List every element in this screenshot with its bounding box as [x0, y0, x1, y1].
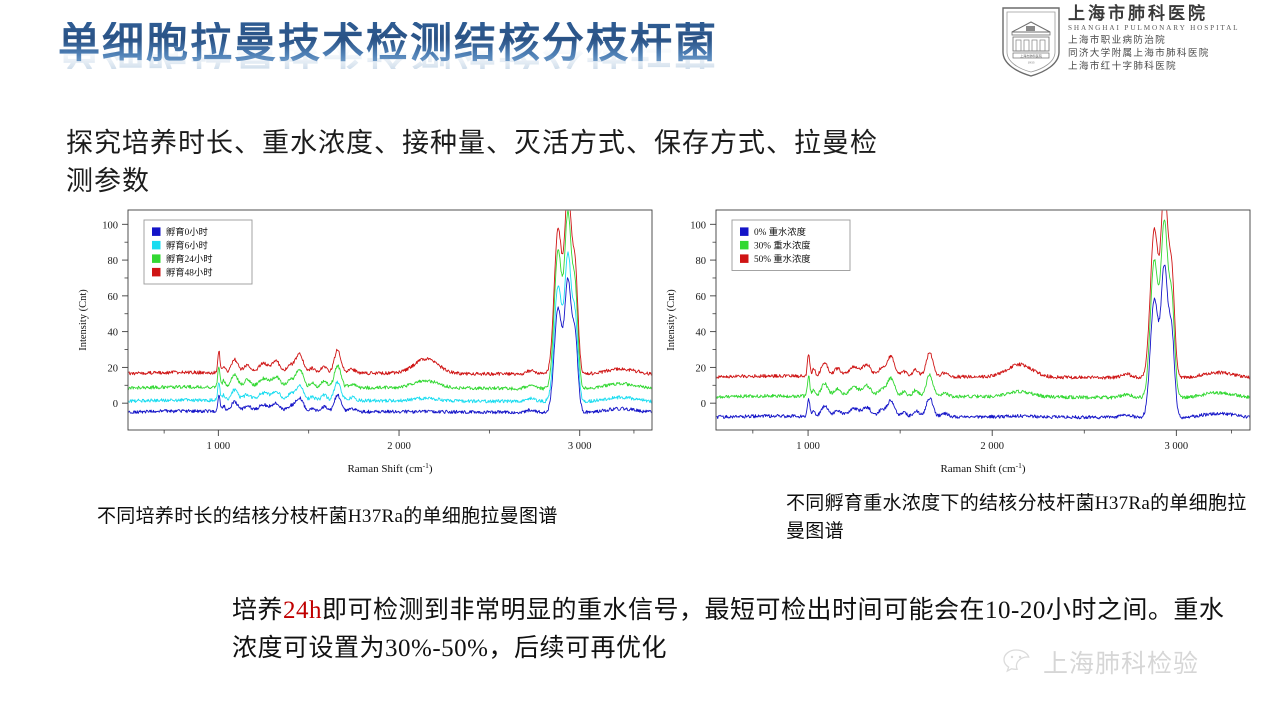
conclusion-post: 即可检测到非常明显的重水信号，最短可检出时间可能会在10-20小时之间。重水浓度…: [232, 597, 1224, 662]
legend-label: 孵育6小时: [166, 240, 208, 252]
x-tick-label: 3 000: [568, 441, 592, 452]
legend-label: 孵育0小时: [166, 226, 208, 238]
legend-label: 孵育24小时: [166, 253, 213, 265]
y-tick-label: 80: [696, 256, 707, 267]
caption-right: 不同孵育重水浓度下的结核分枝杆菌H37Ra的单细胞拉曼图谱: [786, 490, 1256, 545]
raman-chart-d2o-concentration: 0204060801001 0002 0003 000Raman Shift (…: [660, 200, 1260, 480]
x-tick-label: 2 000: [387, 441, 411, 452]
emblem-year: 1933: [1028, 61, 1035, 65]
legend-label: 30% 重水浓度: [754, 240, 811, 252]
slide-root: 上海市肺科医院 1933 上海市肺科医院 SHANGHAI PULMONARY …: [0, 0, 1280, 720]
x-tick-label: 1 000: [796, 441, 820, 452]
conclusion-highlight: 24h: [283, 597, 322, 624]
y-tick-label: 100: [102, 220, 118, 231]
chart-legend: 0% 重水浓度30% 重水浓度50% 重水浓度: [732, 220, 850, 271]
subtitle-text: 探究培养时长、重水浓度、接种量、灭活方式、保存方式、拉曼检测参数: [66, 124, 886, 201]
x-axis-title: Raman Shift (cm-1): [940, 461, 1025, 475]
y-tick-label: 80: [108, 256, 119, 267]
x-axis-title: Raman Shift (cm-1): [347, 461, 432, 475]
conclusion-pre: 培养: [232, 597, 283, 624]
logo-hospital-name-en: SHANGHAI PULMONARY HOSPITAL: [1068, 23, 1239, 34]
y-tick-label: 0: [701, 399, 706, 410]
conclusion-text: 培养24h即可检测到非常明显的重水信号，最短可检出时间可能会在10-20小时之间…: [232, 592, 1242, 668]
x-tick-label: 2 000: [980, 441, 1004, 452]
page-title-reflection: 单细胞拉曼技术检测结核分枝杆菌: [58, 24, 878, 69]
raman-chart-left-svg: 0204060801001 0002 0003 000Raman Shift (…: [72, 200, 662, 480]
y-axis-title: Intensity (Cnt): [78, 289, 89, 351]
y-tick-label: 40: [696, 328, 707, 339]
logo-subline-2: 同济大学附属上海市肺科医院: [1068, 47, 1239, 60]
legend-label: 50% 重水浓度: [754, 253, 811, 265]
x-tick-label: 3 000: [1165, 441, 1189, 452]
legend-label: 0% 重水浓度: [754, 226, 806, 238]
raman-chart-culture-time: 0204060801001 0002 0003 000Raman Shift (…: [72, 200, 662, 480]
svg-text:上海市肺科医院: 上海市肺科医院: [1020, 53, 1042, 58]
y-axis-title: Intensity (Cnt): [666, 289, 677, 351]
x-tick-label: 1 000: [207, 441, 231, 452]
y-tick-label: 20: [696, 363, 707, 374]
legend-label: 孵育48小时: [166, 267, 213, 279]
y-tick-label: 0: [113, 399, 118, 410]
logo-subline-1: 上海市职业病防治院: [1068, 34, 1239, 47]
logo-subline-3: 上海市红十字肺科医院: [1068, 60, 1239, 73]
y-tick-label: 100: [690, 220, 706, 231]
caption-left: 不同培养时长的结核分枝杆菌H37Ra的单细胞拉曼图谱: [97, 503, 617, 531]
raman-chart-right-svg: 0204060801001 0002 0003 000Raman Shift (…: [660, 200, 1260, 480]
logo-hospital-name-cn: 上海市肺科医院: [1068, 5, 1239, 23]
y-tick-label: 60: [696, 292, 707, 303]
hospital-emblem-icon: 上海市肺科医院 1933: [1000, 4, 1062, 78]
hospital-logo: 上海市肺科医院 1933 上海市肺科医院 SHANGHAI PULMONARY …: [1000, 4, 1272, 88]
y-tick-label: 60: [108, 292, 119, 303]
chart-legend: 孵育0小时孵育6小时孵育24小时孵育48小时: [144, 220, 252, 284]
y-tick-label: 20: [108, 363, 119, 374]
y-tick-label: 40: [108, 328, 119, 339]
title-block: 单细胞拉曼技术检测结核分枝杆菌 单细胞拉曼技术检测结核分枝杆菌: [58, 22, 878, 112]
